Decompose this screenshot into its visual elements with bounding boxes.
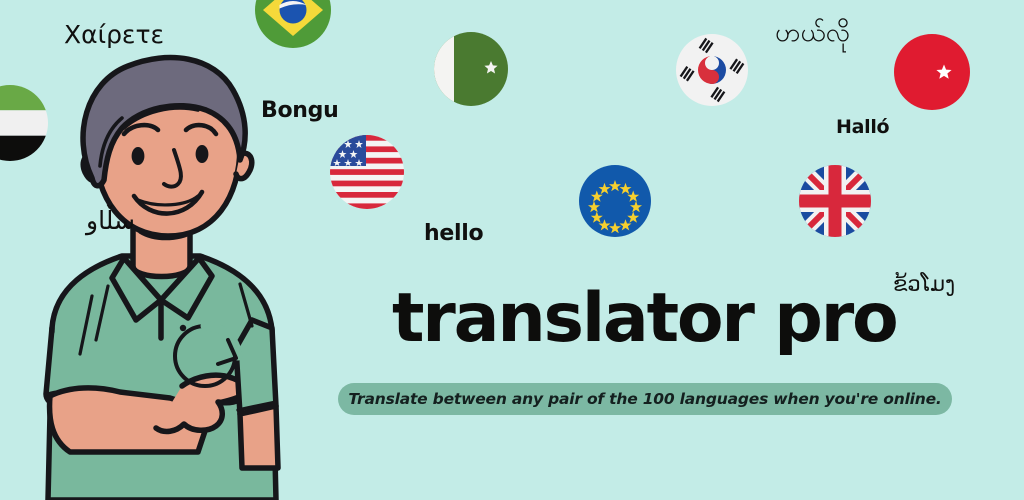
united-kingdom-flag-icon: [799, 165, 871, 237]
subtitle-text: Translate between any pair of the 100 la…: [348, 390, 941, 408]
app-title: translator pro: [392, 285, 897, 353]
greeting-burmese: ဟယ်လို: [775, 20, 850, 46]
pakistan-flag-icon: [434, 32, 508, 106]
south-korea-flag-icon: [676, 34, 748, 106]
greeting-kurdish: سڵاو: [86, 208, 135, 233]
turkey-flag-icon: [894, 34, 970, 110]
greeting-english: hello: [424, 223, 483, 245]
greeting-icelandic: Halló: [836, 118, 889, 137]
greeting-greek: Χαίρετε: [64, 22, 164, 47]
greeting-maltese: Bongu: [261, 100, 338, 122]
greeting-lao: ຂ້ວໂມງ: [893, 274, 955, 295]
subtitle-banner: Translate between any pair of the 100 la…: [338, 383, 952, 415]
app-store-feature-graphic: Χαίρετε Bongu ဟယ်လို Halló hello سڵاو ຂ້…: [0, 0, 1024, 500]
european-union-flag-icon: [579, 165, 651, 237]
